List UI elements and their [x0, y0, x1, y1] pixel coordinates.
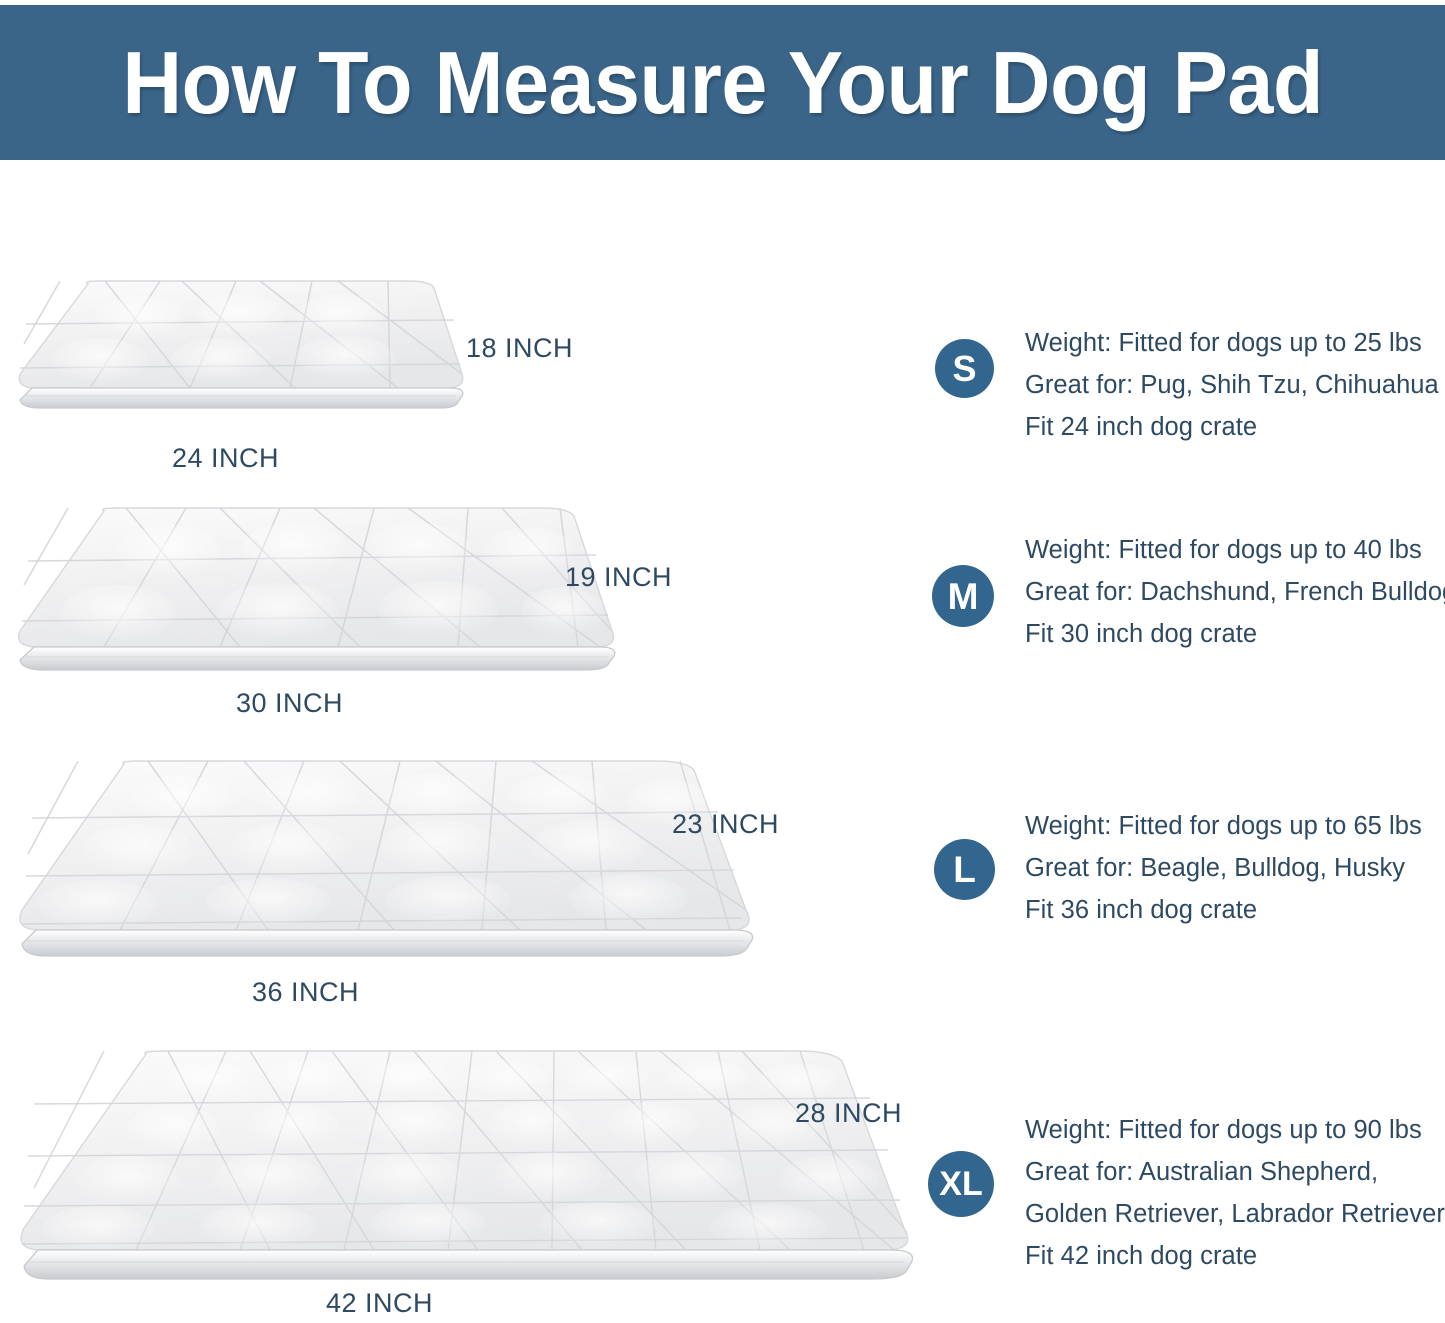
dim-label-xl-depth: 28 INCH — [795, 1098, 902, 1129]
size-breeds2-xl: Golden Retriever, Labrador Retriever — [1025, 1193, 1445, 1235]
dim-label-m-depth: 19 INCH — [565, 562, 672, 593]
size-weight-l: Weight: Fitted for dogs up to 65 lbs — [1025, 805, 1422, 847]
dim-label-s-depth: 18 INCH — [466, 333, 573, 364]
size-badge-s: S — [935, 339, 994, 398]
size-breeds-xl: Great for: Australian Shepherd, — [1025, 1151, 1445, 1193]
pad-shape-l — [8, 758, 763, 968]
size-crate-s: Fit 24 inch dog crate — [1025, 406, 1439, 448]
header-banner: How To Measure Your Dog Pad — [0, 5, 1445, 160]
dim-label-l-width: 36 INCH — [252, 977, 359, 1008]
size-badge-m: M — [932, 565, 994, 627]
size-weight-s: Weight: Fitted for dogs up to 25 lbs — [1025, 322, 1439, 364]
size-weight-m: Weight: Fitted for dogs up to 40 lbs — [1025, 529, 1445, 571]
size-spec-xl: Weight: Fitted for dogs up to 90 lbs Gre… — [1025, 1109, 1445, 1277]
pad-shape-xl — [8, 1048, 923, 1293]
dim-label-m-width: 30 INCH — [236, 688, 343, 719]
dim-label-s-width: 24 INCH — [172, 443, 279, 474]
pad-illustration-xl — [8, 1048, 923, 1293]
size-crate-xl: Fit 42 inch dog crate — [1025, 1235, 1445, 1277]
size-crate-l: Fit 36 inch dog crate — [1025, 889, 1422, 931]
pad-illustration-l — [8, 758, 763, 968]
size-badge-xl: XL — [928, 1151, 994, 1217]
size-spec-l: Weight: Fitted for dogs up to 65 lbs Gre… — [1025, 805, 1422, 931]
size-breeds-l: Great for: Beagle, Bulldog, Husky — [1025, 847, 1422, 889]
size-spec-s: Weight: Fitted for dogs up to 25 lbs Gre… — [1025, 322, 1439, 448]
pad-illustration-s — [10, 278, 470, 423]
size-spec-m: Weight: Fitted for dogs up to 40 lbs Gre… — [1025, 529, 1445, 655]
pad-shape-s — [10, 278, 470, 423]
size-weight-xl: Weight: Fitted for dogs up to 90 lbs — [1025, 1109, 1445, 1151]
page-title: How To Measure Your Dog Pad — [122, 39, 1323, 127]
dim-label-xl-width: 42 INCH — [326, 1288, 433, 1319]
pad-shape-m — [8, 505, 623, 680]
dim-label-l-depth: 23 INCH — [672, 809, 779, 840]
pad-illustration-m — [8, 505, 623, 680]
size-breeds-s: Great for: Pug, Shih Tzu, Chihuahua — [1025, 364, 1439, 406]
size-crate-m: Fit 30 inch dog crate — [1025, 613, 1445, 655]
size-breeds-m: Great for: Dachshund, French Bulldog — [1025, 571, 1445, 613]
size-badge-l: L — [934, 839, 995, 900]
